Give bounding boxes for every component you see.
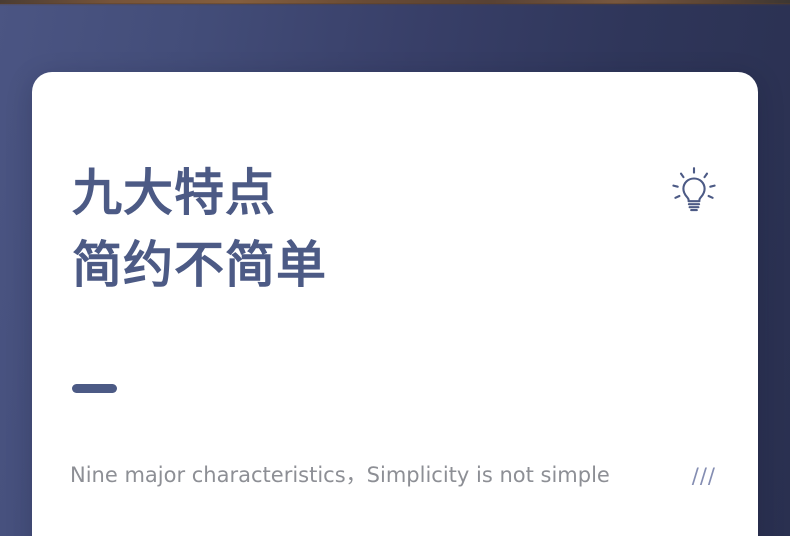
divider: [72, 384, 117, 393]
content-card: 九大特点 简约不简单 Nine major characteristics，Si…: [32, 72, 758, 536]
lightbulb-icon: [666, 164, 722, 220]
page-title: 九大特点 简约不简单: [72, 157, 327, 301]
page-subtitle: Nine major characteristics，Simplicity is…: [70, 461, 610, 489]
slide-canvas: 九大特点 简约不简单 Nine major characteristics，Si…: [0, 0, 790, 536]
page-title-line-2: 简约不简单: [72, 229, 327, 301]
content-card-inner: 九大特点 简约不简单 Nine major characteristics，Si…: [32, 72, 758, 536]
slashes-decoration: ///: [692, 462, 716, 490]
lightbulb-icon-glyph: [666, 164, 722, 220]
page-title-line-1: 九大特点: [72, 157, 327, 229]
top-edge-strip-fade: [0, 3, 790, 6]
